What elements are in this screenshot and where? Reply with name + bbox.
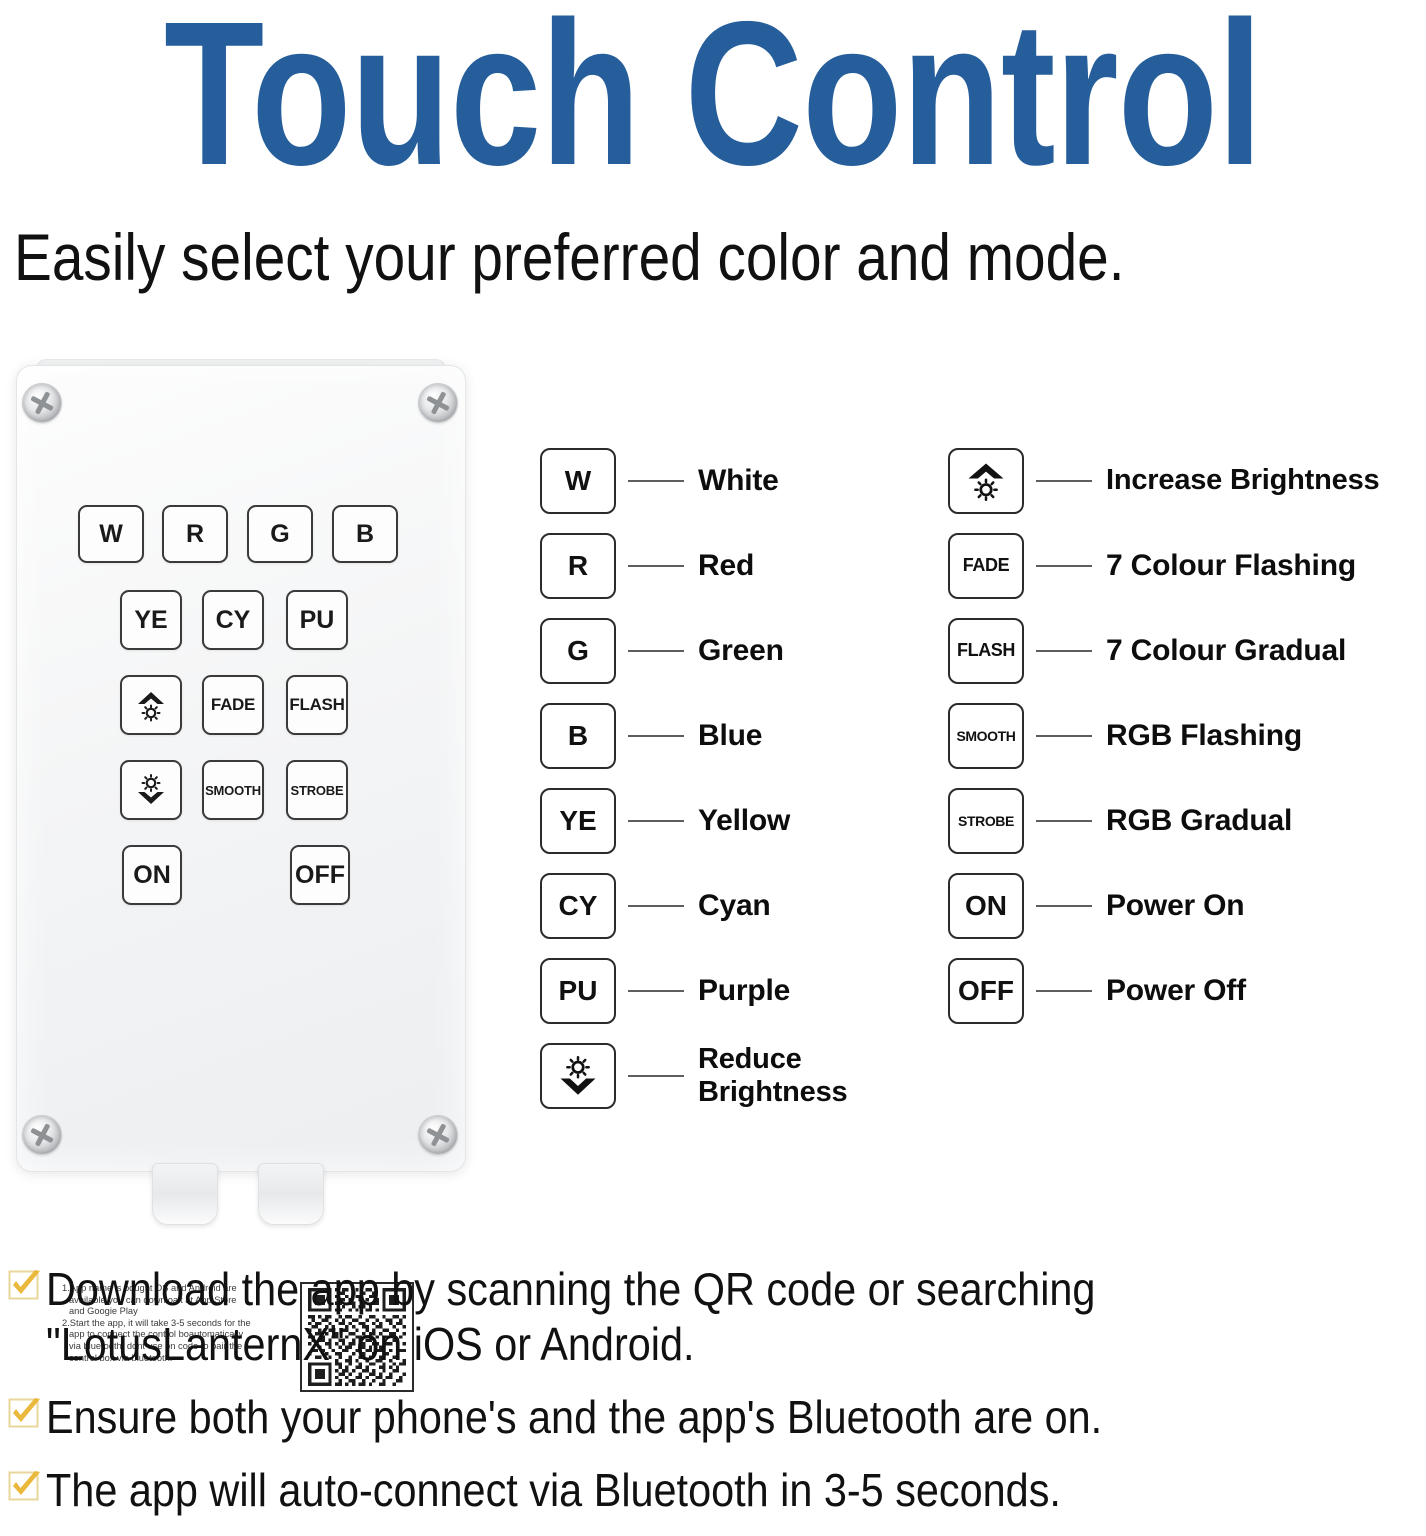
legend-key-label: B bbox=[568, 720, 588, 752]
increase-brightness-icon bbox=[961, 456, 1011, 506]
legend-key-label: PU bbox=[559, 975, 598, 1007]
legend-row-yellow: YE Yellow bbox=[540, 778, 940, 863]
legend-key-reduce-brightness bbox=[540, 1043, 616, 1109]
device-button-label: STROBE bbox=[291, 783, 344, 798]
instructions-list: Download the app by scanning the QR code… bbox=[8, 1262, 1426, 1536]
legend-row-purple: PU Purple bbox=[540, 948, 940, 1033]
legend-label-power-on: Power On bbox=[1106, 889, 1426, 922]
screw-bottom-right-icon bbox=[418, 1115, 458, 1155]
legend-key-label: G bbox=[567, 635, 589, 667]
legend-key-label: W bbox=[565, 465, 591, 497]
legend-key-on: ON bbox=[948, 873, 1024, 939]
legend-row-cyan: CY Cyan bbox=[540, 863, 940, 948]
list-item: The app will auto-connect via Bluetooth … bbox=[8, 1463, 1426, 1518]
device-button-ye[interactable]: YE bbox=[120, 590, 182, 650]
legend-key-label: OFF bbox=[958, 975, 1014, 1007]
checkmark-icon bbox=[8, 1268, 42, 1302]
leader-line bbox=[628, 1075, 684, 1077]
legend-key-ye: YE bbox=[540, 788, 616, 854]
legend-key-label: R bbox=[568, 550, 588, 582]
device-button-reduce-brightness[interactable] bbox=[120, 760, 182, 820]
legend-row-green: G Green bbox=[540, 608, 940, 693]
legend-label-white: White bbox=[698, 464, 940, 497]
legend-label-power-off: Power Off bbox=[1106, 974, 1426, 1007]
legend-label-cyan: Cyan bbox=[698, 889, 940, 922]
legend-label-yellow: Yellow bbox=[698, 804, 940, 837]
list-item-text: Download the app by scanning the QR code… bbox=[46, 1262, 1288, 1372]
legend-row-white: W White bbox=[540, 438, 940, 523]
device-button-increase-brightness[interactable] bbox=[120, 675, 182, 735]
screw-top-left-icon bbox=[22, 383, 62, 423]
device-button-label: B bbox=[356, 520, 374, 549]
reduce-brightness-icon bbox=[131, 770, 171, 810]
device-button-label: CY bbox=[216, 606, 251, 635]
controller-device-image: W R G B YE CY PU FADE FLASH bbox=[0, 345, 500, 1245]
legend-key-label: STROBE bbox=[958, 813, 1014, 829]
legend-key-label: ON bbox=[965, 890, 1007, 922]
page-title: Touch Control bbox=[143, 0, 1284, 194]
legend-row-increase-brightness: Increase Brightness bbox=[948, 438, 1426, 523]
leader-line bbox=[1036, 735, 1092, 737]
checkmark-icon bbox=[8, 1469, 42, 1503]
legend-row-strobe: STROBE RGB Gradual bbox=[948, 778, 1426, 863]
legend-column-modes: Increase Brightness FADE 7 Colour Flashi… bbox=[948, 438, 1426, 1033]
legend-key-label: SMOOTH bbox=[956, 728, 1015, 744]
legend-key-label: YE bbox=[559, 805, 596, 837]
legend-key-cy: CY bbox=[540, 873, 616, 939]
device-button-smooth[interactable]: SMOOTH bbox=[202, 760, 264, 820]
list-item: Ensure both your phone's and the app's B… bbox=[8, 1390, 1426, 1445]
legend-key-g: G bbox=[540, 618, 616, 684]
leader-line bbox=[1036, 820, 1092, 822]
device-button-w[interactable]: W bbox=[78, 505, 144, 563]
legend-column-colors: W White R Red G Green B Blue YE Yellow C… bbox=[540, 438, 940, 1118]
device-button-on[interactable]: ON bbox=[122, 845, 182, 905]
legend-key-increase-brightness bbox=[948, 448, 1024, 514]
leader-line bbox=[1036, 565, 1092, 567]
device-button-g[interactable]: G bbox=[247, 505, 313, 563]
legend-key-off: OFF bbox=[948, 958, 1024, 1024]
legend-row-reduce-brightness: Reduce Brightness bbox=[540, 1033, 940, 1118]
checkmark-icon bbox=[8, 1396, 42, 1430]
device-button-label: OFF bbox=[295, 861, 345, 890]
legend-label-purple: Purple bbox=[698, 974, 940, 1007]
leader-line bbox=[628, 990, 684, 992]
cable-gland-right bbox=[258, 1163, 324, 1225]
legend-key-w: W bbox=[540, 448, 616, 514]
legend-label-reduce-brightness: Reduce Brightness bbox=[698, 1043, 940, 1109]
list-item: Download the app by scanning the QR code… bbox=[8, 1262, 1426, 1372]
legend-key-label: FADE bbox=[963, 555, 1009, 576]
device-button-flash[interactable]: FLASH bbox=[286, 675, 348, 735]
legend-row-fade: FADE 7 Colour Flashing bbox=[948, 523, 1426, 608]
device-button-label: R bbox=[186, 520, 204, 549]
legend-key-pu: PU bbox=[540, 958, 616, 1024]
legend-key-b: B bbox=[540, 703, 616, 769]
legend-row-flash: FLASH 7 Colour Gradual bbox=[948, 608, 1426, 693]
increase-brightness-icon bbox=[131, 685, 171, 725]
device-button-label: YE bbox=[134, 606, 167, 635]
device-button-b[interactable]: B bbox=[332, 505, 398, 563]
legend-label-strobe: RGB Gradual bbox=[1106, 804, 1426, 837]
list-item-text: The app will auto-connect via Bluetooth … bbox=[46, 1463, 1288, 1518]
device-button-strobe[interactable]: STROBE bbox=[286, 760, 348, 820]
legend-key-flash: FLASH bbox=[948, 618, 1024, 684]
leader-line bbox=[628, 480, 684, 482]
legend-label-fade: 7 Colour Flashing bbox=[1106, 549, 1426, 582]
legend-label-red: Red bbox=[698, 549, 940, 582]
leader-line bbox=[628, 905, 684, 907]
legend-key-label: CY bbox=[559, 890, 598, 922]
device-button-label: G bbox=[270, 520, 289, 549]
cable-gland-left bbox=[152, 1163, 218, 1225]
leader-line bbox=[1036, 990, 1092, 992]
screw-top-right-icon bbox=[418, 383, 458, 423]
leader-line bbox=[628, 650, 684, 652]
page-subtitle: Easily select your preferred color and m… bbox=[14, 222, 1218, 292]
device-button-label: PU bbox=[300, 606, 335, 635]
legend-key-smooth: SMOOTH bbox=[948, 703, 1024, 769]
device-button-label: W bbox=[99, 520, 123, 549]
legend-row-blue: B Blue bbox=[540, 693, 940, 778]
leader-line bbox=[628, 820, 684, 822]
legend-label-smooth: RGB Flashing bbox=[1106, 719, 1426, 752]
legend-key-r: R bbox=[540, 533, 616, 599]
leader-line bbox=[628, 565, 684, 567]
device-button-label: ON bbox=[133, 861, 171, 890]
device-button-fade[interactable]: FADE bbox=[202, 675, 264, 735]
device-button-label: FLASH bbox=[289, 695, 344, 715]
legend-label-blue: Blue bbox=[698, 719, 940, 752]
device-button-cy[interactable]: CY bbox=[202, 590, 264, 650]
leader-line bbox=[628, 735, 684, 737]
legend-row-power-on: ON Power On bbox=[948, 863, 1426, 948]
device-button-label: FADE bbox=[211, 695, 255, 715]
reduce-brightness-icon bbox=[553, 1051, 603, 1101]
legend-label-increase-brightness: Increase Brightness bbox=[1106, 464, 1426, 497]
legend-label-flash: 7 Colour Gradual bbox=[1106, 634, 1426, 667]
legend-row-smooth: SMOOTH RGB Flashing bbox=[948, 693, 1426, 778]
leader-line bbox=[1036, 650, 1092, 652]
device-button-r[interactable]: R bbox=[162, 505, 228, 563]
legend-key-fade: FADE bbox=[948, 533, 1024, 599]
leader-line bbox=[1036, 480, 1092, 482]
screw-bottom-left-icon bbox=[22, 1115, 62, 1155]
legend-row-power-off: OFF Power Off bbox=[948, 948, 1426, 1033]
header-banner: Touch Control Easily select your preferr… bbox=[0, 0, 1426, 320]
device-button-pu[interactable]: PU bbox=[286, 590, 348, 650]
legend-key-label: FLASH bbox=[957, 640, 1015, 661]
leader-line bbox=[1036, 905, 1092, 907]
list-item-text: Ensure both your phone's and the app's B… bbox=[46, 1390, 1288, 1445]
legend-label-green: Green bbox=[698, 634, 940, 667]
device-button-off[interactable]: OFF bbox=[290, 845, 350, 905]
legend-row-red: R Red bbox=[540, 523, 940, 608]
legend-key-strobe: STROBE bbox=[948, 788, 1024, 854]
device-button-label: SMOOTH bbox=[205, 783, 261, 798]
